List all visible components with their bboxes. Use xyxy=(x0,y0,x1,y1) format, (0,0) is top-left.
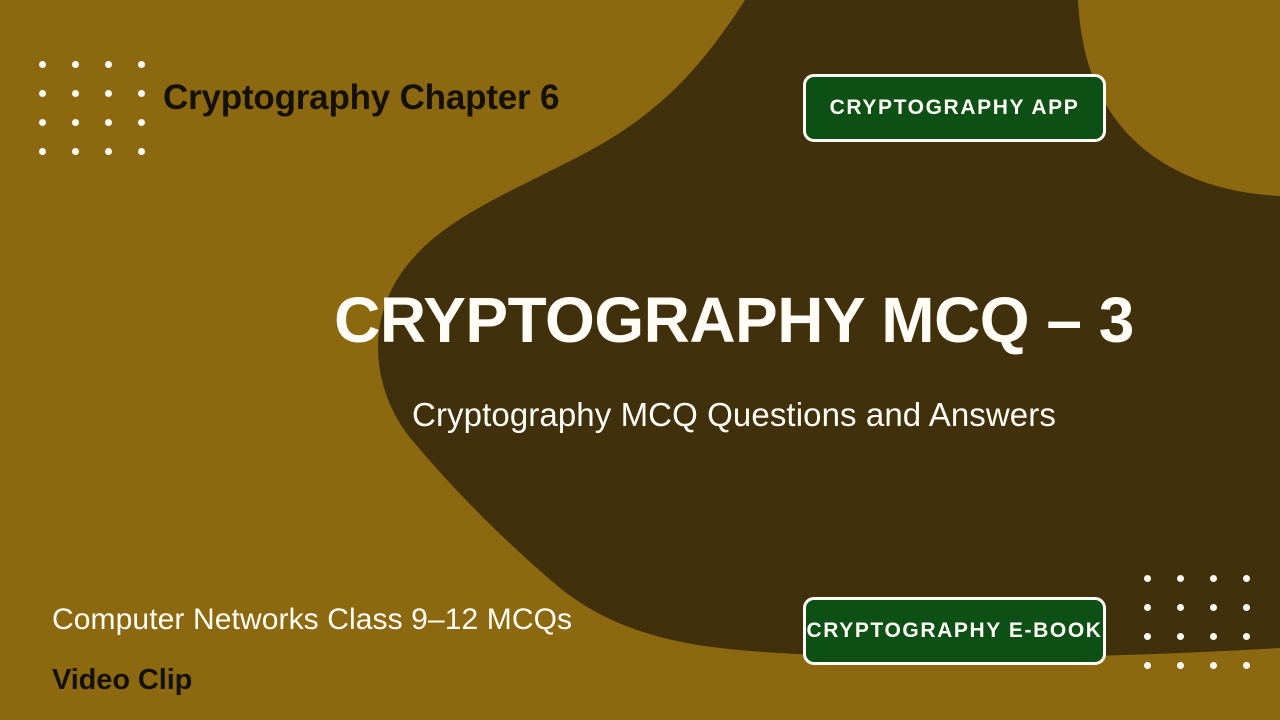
dot xyxy=(1243,604,1250,611)
dot xyxy=(1210,604,1217,611)
dot xyxy=(1243,575,1250,582)
page-title: Cryptography Chapter 6 xyxy=(163,78,559,118)
dot xyxy=(1243,633,1250,640)
main-heading: CRYPTOGRAPHY MCQ – 3 xyxy=(0,283,1280,357)
footer-caption: Computer Networks Class 9–12 MCQs xyxy=(52,603,572,637)
dot xyxy=(39,148,46,155)
cryptography-app-button[interactable]: CRYPTOGRAPHY APP xyxy=(803,74,1106,142)
dot xyxy=(1177,604,1184,611)
footer-label: Video Clip xyxy=(52,664,192,697)
cryptography-ebook-button[interactable]: CRYPTOGRAPHY E-BOOK xyxy=(803,597,1106,665)
dot xyxy=(72,61,79,68)
slide-canvas: Cryptography Chapter 6 CRYPTOGRAPHY APP … xyxy=(0,0,1280,720)
dot xyxy=(138,61,145,68)
dot xyxy=(1177,633,1184,640)
dot xyxy=(1144,662,1151,669)
dot xyxy=(1144,633,1151,640)
dot xyxy=(138,119,145,126)
dot xyxy=(105,61,112,68)
main-subheading: Cryptography MCQ Questions and Answers xyxy=(0,396,1280,434)
dot xyxy=(72,90,79,97)
dot xyxy=(1210,633,1217,640)
dot-grid-icon-bottom-right xyxy=(1144,575,1250,669)
dot xyxy=(1144,575,1151,582)
dot xyxy=(105,148,112,155)
dot xyxy=(39,90,46,97)
dot xyxy=(72,119,79,126)
dot xyxy=(1177,662,1184,669)
dot xyxy=(1210,575,1217,582)
dot xyxy=(39,119,46,126)
dot xyxy=(1210,662,1217,669)
dot xyxy=(1177,575,1184,582)
dot xyxy=(1144,604,1151,611)
dot xyxy=(138,90,145,97)
dot xyxy=(1243,662,1250,669)
dot xyxy=(105,119,112,126)
dot xyxy=(138,148,145,155)
dot xyxy=(72,148,79,155)
dot xyxy=(105,90,112,97)
dot-grid-icon-top-left xyxy=(39,61,145,155)
dot xyxy=(39,61,46,68)
